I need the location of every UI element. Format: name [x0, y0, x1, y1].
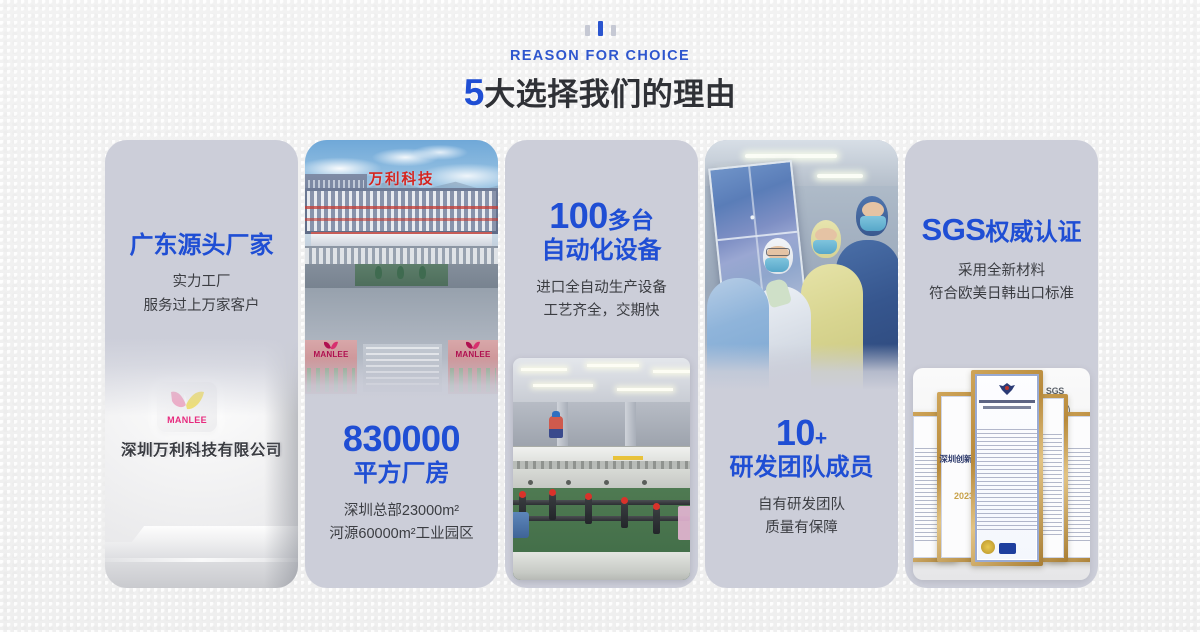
card-subtext-line-1: 采用全新材料 — [905, 260, 1098, 283]
face-mask-icon — [765, 258, 789, 272]
card-text-block: SGS权威认证 采用全新材料 符合欧美日韩出口标准 — [905, 212, 1098, 307]
safety-glasses-icon — [766, 248, 790, 256]
card-subtext-line-1: 进口全自动生产设备 — [505, 277, 698, 300]
card-subtext-line-2: 质量有保障 — [705, 517, 898, 540]
production-floor-machinery-photo — [505, 350, 698, 588]
card-headline-line-1: 830000 — [343, 418, 460, 459]
card-subtext-line-2: 工艺齐全，交期快 — [505, 300, 698, 323]
card-830000-square-meter-plant[interactable]: 万利科技 MANLEE — [305, 140, 498, 588]
card-headline-plus: + — [815, 427, 827, 450]
card-headline-number: 10 — [776, 412, 815, 453]
section-eyebrow: REASON FOR CHOICE — [0, 48, 1200, 64]
section-header: REASON FOR CHOICE 5大选择我们的理由 — [0, 0, 1200, 114]
foreground-folder-gluer-machine — [513, 490, 690, 580]
card-headline: 广东源头厂家 — [105, 232, 298, 260]
photo-bottom-fade — [305, 358, 498, 402]
card-subtext: 自有研发团队 质量有保障 — [705, 494, 898, 541]
card-headline-line-2: 自动化设备 — [542, 237, 662, 264]
card-guangdong-source-factory[interactable]: MANLEE 深圳万利科技有限公司 深圳万利科技有限公司 广东源头厂家 实力工厂… — [105, 140, 298, 588]
building-sign-text: 万利科技 — [305, 168, 498, 189]
pink-paper-stack — [678, 506, 690, 540]
butterfly-mark-icon — [465, 341, 481, 350]
card-subtext-line-2: 河源60000m²工业园区 — [305, 523, 498, 546]
header-tick-decoration — [0, 18, 1200, 36]
card-subtext: 采用全新材料 符合欧美日韩出口标准 — [905, 260, 1098, 307]
certificates-display-photo: SGS 深圳创新企 — [905, 362, 1098, 588]
photo-bottom-fade — [705, 344, 898, 390]
card-text-block: 830000 平方厂房 深圳总部23000m² 河源60000m²工业园区 — [305, 418, 498, 547]
card-headline-line-2: 研发团队成员 — [730, 454, 874, 481]
card-headline-sgs: SGS — [922, 212, 986, 247]
card-100-automation-equipment[interactable]: 100多台 自动化设备 进口全自动生产设备 工艺齐全，交期快 — [505, 140, 698, 588]
reason-card-strip: MANLEE 深圳万利科技有限公司 深圳万利科技有限公司 广东源头厂家 实力工厂… — [105, 140, 1098, 588]
tick-bar-right-icon — [611, 25, 616, 36]
eagle-crest-icon — [998, 382, 1016, 396]
headline-rest: 大选择我们的理由 — [484, 77, 736, 112]
parking-lot — [305, 248, 498, 264]
control-box — [513, 512, 529, 538]
card-text-block: 100多台 自动化设备 进口全自动生产设备 工艺齐全，交期快 — [505, 195, 698, 324]
fda-mark-icon — [999, 543, 1016, 554]
photo-top-fade — [105, 338, 298, 416]
main-office-building — [305, 188, 498, 234]
factory-worker — [549, 416, 563, 438]
card-headline: 10+ 研发团队成员 — [705, 412, 898, 483]
card-sgs-authoritative-certification[interactable]: SGS权威认证 采用全新材料 符合欧美日韩出口标准 SGS — [905, 140, 1098, 588]
card-headline-line-2: 平方厂房 — [354, 460, 450, 487]
card-headline-number: 100 — [549, 195, 608, 236]
upper-machine-row — [513, 446, 690, 492]
tick-bar-left-icon — [585, 25, 590, 36]
card-headline: 830000 平方厂房 — [305, 418, 498, 489]
factory-campus-aerial-photo: 万利科技 MANLEE — [305, 140, 498, 402]
card-text-block: 10+ 研发团队成员 自有研发团队 质量有保障 — [705, 412, 898, 541]
tick-bar-center-accent-icon — [598, 21, 603, 36]
background-shelving — [513, 402, 690, 452]
card-subtext-line-2: 符合欧美日韩出口标准 — [905, 283, 1098, 306]
card-10-plus-rd-team[interactable]: 10+ 研发团队成员 自有研发团队 质量有保障 — [705, 140, 898, 588]
card-subtext-line-1: 自有研发团队 — [705, 494, 898, 517]
card-headline-line-1: 广东源头厂家 — [130, 232, 274, 259]
certificate-frame-center — [971, 370, 1043, 566]
gold-seal-icon — [981, 540, 995, 554]
card-subtext-line-1: 深圳总部23000m² — [305, 500, 498, 523]
card-text-block: 广东源头厂家 实力工厂 服务过上万家客户 — [105, 232, 298, 318]
company-lobby-wall-photo: MANLEE 深圳万利科技有限公司 深圳万利科技有限公司 — [105, 338, 298, 588]
card-subtext-line-1: 实力工厂 — [105, 271, 298, 294]
face-mask-icon — [813, 240, 837, 254]
card-subtext: 实力工厂 服务过上万家客户 — [105, 271, 298, 318]
brand-wordmark: MANLEE — [157, 415, 217, 425]
cleanroom-inspection-photo — [705, 140, 898, 390]
card-headline-unit: 多台 — [608, 207, 654, 233]
card-headline-rest: 权威认证 — [985, 219, 1081, 246]
page-title: 5大选择我们的理由 — [0, 73, 1200, 114]
card-subtext: 进口全自动生产设备 工艺齐全，交期快 — [505, 277, 698, 324]
card-subtext: 深圳总部23000m² 河源60000m²工业园区 — [305, 500, 498, 547]
face-mask-icon — [860, 216, 886, 231]
headline-number: 5 — [464, 72, 485, 113]
card-subtext-line-2: 服务过上万家客户 — [105, 295, 298, 318]
card-headline: 100多台 自动化设备 — [505, 195, 698, 266]
card-headline: SGS权威认证 — [905, 212, 1098, 249]
butterfly-mark-icon — [323, 341, 339, 350]
